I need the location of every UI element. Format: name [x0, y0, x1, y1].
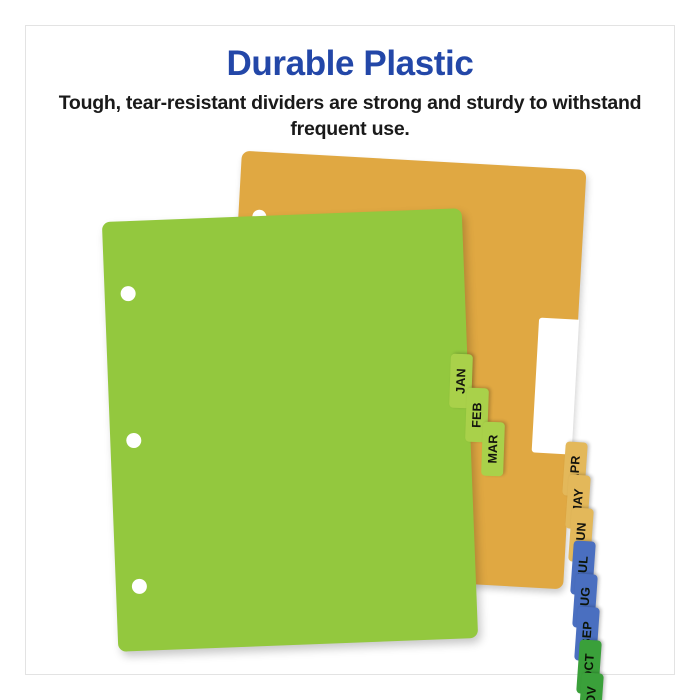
tab-nov[interactable]: NOV: [578, 672, 604, 700]
punch-hole-green-middle: [126, 433, 142, 449]
headline-block: Durable Plastic Tough, tear-resistant di…: [50, 44, 650, 143]
page-subtitle: Tough, tear-resistant dividers are stron…: [50, 91, 650, 143]
orange-sheet-notch: [532, 318, 579, 455]
punch-hole-green-bottom: [132, 579, 148, 595]
page-title: Durable Plastic: [50, 44, 650, 83]
product-photo: JAN FEB MAR APR MAY JUN JUL AUG SEP OCT: [0, 150, 700, 670]
green-divider-sheet: [102, 208, 478, 652]
product-image: Durable Plastic Tough, tear-resistant di…: [0, 0, 700, 700]
tab-label-feb: FEB: [470, 402, 483, 428]
tab-mar[interactable]: MAR: [481, 422, 505, 477]
tab-label-nov: NOV: [584, 686, 598, 700]
punch-hole-green-top: [120, 286, 136, 302]
tab-label-jan: JAN: [454, 368, 467, 394]
tab-label-mar: MAR: [486, 434, 500, 463]
